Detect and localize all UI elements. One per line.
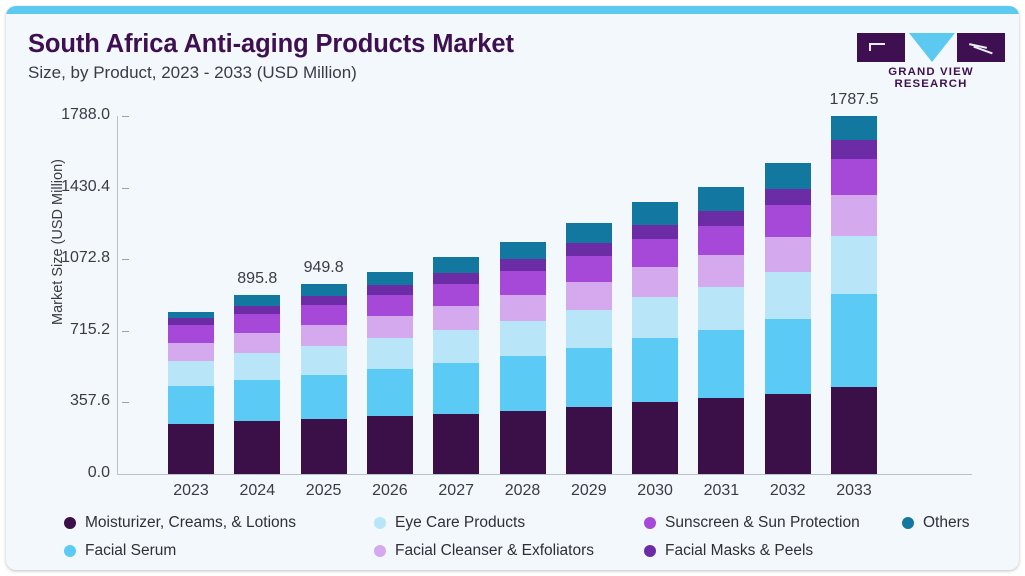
legend-item[interactable]: Moisturizer, Creams, & Lotions xyxy=(64,514,296,532)
x-axis-line xyxy=(117,474,972,475)
y-axis-tick-label: 1072.8 xyxy=(18,249,110,267)
bar-segment[interactable] xyxy=(765,394,811,474)
bar-segment[interactable] xyxy=(632,267,678,297)
bar-segment[interactable] xyxy=(698,226,744,255)
bar-segment[interactable] xyxy=(632,239,678,267)
bar-segment[interactable] xyxy=(367,338,413,369)
bar-segment[interactable] xyxy=(765,237,811,272)
bar-segment[interactable] xyxy=(566,256,612,282)
bar-segment[interactable] xyxy=(500,259,546,271)
bar-segment[interactable] xyxy=(632,202,678,225)
bar-segment[interactable] xyxy=(168,424,214,474)
bar-2033[interactable] xyxy=(831,116,877,474)
bar-segment[interactable] xyxy=(367,316,413,338)
legend-color-dot-icon xyxy=(374,517,386,529)
bar-segment[interactable] xyxy=(234,380,280,421)
bar-segment[interactable] xyxy=(765,205,811,237)
bar-segment[interactable] xyxy=(168,312,214,318)
chart-legend: Moisturizer, Creams, & LotionsEye Care P… xyxy=(64,514,994,564)
bar-segment[interactable] xyxy=(698,287,744,330)
x-axis-tick-label-2033: 2033 xyxy=(814,482,894,500)
legend-color-dot-icon xyxy=(374,545,386,557)
bar-segment[interactable] xyxy=(566,407,612,474)
bar-segment[interactable] xyxy=(698,330,744,398)
chart-card: South Africa Anti-aging Products Market … xyxy=(6,6,1019,570)
legend-item[interactable]: Sunscreen & Sun Protection xyxy=(644,514,860,532)
y-axis-tick-label: 715.2 xyxy=(18,321,110,339)
bar-segment[interactable] xyxy=(433,257,479,272)
bar-segment[interactable] xyxy=(433,414,479,474)
y-axis-tick-mark xyxy=(122,331,129,332)
bar-segment[interactable] xyxy=(433,306,479,330)
y-axis-tick-label: 1430.4 xyxy=(18,178,110,196)
bar-segment[interactable] xyxy=(234,295,280,306)
bar-2027[interactable] xyxy=(433,257,479,474)
bar-segment[interactable] xyxy=(698,187,744,210)
bar-segment[interactable] xyxy=(433,330,479,363)
legend-item-label: Sunscreen & Sun Protection xyxy=(665,514,860,532)
bar-2025[interactable] xyxy=(301,284,347,474)
bar-2031[interactable] xyxy=(698,187,744,474)
legend-item[interactable]: Eye Care Products xyxy=(374,514,525,532)
bar-segment[interactable] xyxy=(765,189,811,205)
bar-segment[interactable] xyxy=(234,306,280,314)
bar-segment[interactable] xyxy=(566,243,612,256)
y-axis-tick-mark xyxy=(122,188,129,189)
bar-segment[interactable] xyxy=(500,356,546,411)
legend-item-label: Others xyxy=(923,514,970,532)
bar-2023[interactable] xyxy=(168,312,214,474)
y-axis-tick-label: 1788.0 xyxy=(18,106,110,124)
legend-color-dot-icon xyxy=(644,517,656,529)
y-axis-tick-label: 0.0 xyxy=(18,464,110,482)
bar-segment[interactable] xyxy=(632,225,678,239)
bar-segment[interactable] xyxy=(500,271,546,295)
bar-segment[interactable] xyxy=(500,242,546,259)
bar-segment[interactable] xyxy=(566,310,612,348)
bar-segment[interactable] xyxy=(566,223,612,242)
legend-color-dot-icon xyxy=(64,517,76,529)
bar-segment[interactable] xyxy=(831,116,877,140)
legend-item-label: Facial Serum xyxy=(85,542,176,560)
bar-segment[interactable] xyxy=(500,411,546,474)
bar-segment[interactable] xyxy=(698,255,744,287)
bar-2030[interactable] xyxy=(632,201,678,474)
bar-segment[interactable] xyxy=(831,294,877,387)
legend-item[interactable]: Facial Masks & Peels xyxy=(644,542,813,560)
y-axis-line xyxy=(117,116,118,474)
legend-item-label: Facial Cleanser & Exfoliators xyxy=(395,542,594,560)
bar-2029[interactable] xyxy=(566,223,612,474)
bar-segment[interactable] xyxy=(367,295,413,316)
bar-segment[interactable] xyxy=(500,295,546,321)
legend-item[interactable]: Others xyxy=(902,514,970,532)
y-axis-tick-label: 357.6 xyxy=(18,392,110,410)
bar-segment[interactable] xyxy=(168,386,214,424)
bar-segment[interactable] xyxy=(433,284,479,306)
legend-item-label: Eye Care Products xyxy=(395,514,525,532)
legend-item[interactable]: Facial Cleanser & Exfoliators xyxy=(374,542,594,560)
bar-segment[interactable] xyxy=(168,325,214,343)
bar-segment[interactable] xyxy=(367,369,413,416)
bar-segment[interactable] xyxy=(234,353,280,380)
bar-value-label-2033: 1787.5 xyxy=(799,91,909,109)
bar-segment[interactable] xyxy=(831,236,877,294)
bar-segment[interactable] xyxy=(234,314,280,333)
y-axis-tick-mark xyxy=(122,116,129,117)
bar-segment[interactable] xyxy=(831,140,877,159)
bar-segment[interactable] xyxy=(566,282,612,310)
bar-2024[interactable] xyxy=(234,295,280,474)
bar-segment[interactable] xyxy=(632,297,678,338)
bar-segment[interactable] xyxy=(301,296,347,305)
bar-segment[interactable] xyxy=(765,319,811,394)
bar-segment[interactable] xyxy=(433,363,479,414)
bar-segment[interactable] xyxy=(500,321,546,356)
bar-segment[interactable] xyxy=(831,159,877,195)
bar-segment[interactable] xyxy=(698,211,744,226)
bar-segment[interactable] xyxy=(234,421,280,474)
bar-segment[interactable] xyxy=(632,402,678,474)
bar-2032[interactable] xyxy=(765,163,811,474)
legend-color-dot-icon xyxy=(644,545,656,557)
y-axis-tick-mark xyxy=(122,259,129,260)
bar-segment[interactable] xyxy=(831,387,877,474)
bar-segment[interactable] xyxy=(765,272,811,319)
y-axis-label: Market Size (USD Million) xyxy=(50,142,66,342)
bar-segment[interactable] xyxy=(168,318,214,325)
bar-segment[interactable] xyxy=(168,343,214,361)
legend-color-dot-icon xyxy=(64,545,76,557)
stacked-bar-chart: Market Size (USD Million) 0.0357.6715.21… xyxy=(6,6,1019,570)
bar-segment[interactable] xyxy=(301,375,347,419)
legend-item-label: Facial Masks & Peels xyxy=(665,542,813,560)
legend-color-dot-icon xyxy=(902,517,914,529)
bar-segment[interactable] xyxy=(632,338,678,402)
bar-segment[interactable] xyxy=(566,348,612,407)
bar-segment[interactable] xyxy=(765,163,811,188)
bar-2028[interactable] xyxy=(500,242,546,474)
bar-segment[interactable] xyxy=(698,398,744,474)
bar-segment[interactable] xyxy=(301,325,347,346)
bar-2026[interactable] xyxy=(367,272,413,474)
legend-item[interactable]: Facial Serum xyxy=(64,542,176,560)
bar-segment[interactable] xyxy=(831,195,877,236)
bar-segment[interactable] xyxy=(301,305,347,325)
bar-segment[interactable] xyxy=(301,346,347,375)
bar-segment[interactable] xyxy=(234,333,280,353)
bar-segment[interactable] xyxy=(301,419,347,474)
bar-segment[interactable] xyxy=(168,361,214,386)
bar-segment[interactable] xyxy=(433,273,479,284)
y-axis-tick-mark xyxy=(122,402,129,403)
legend-item-label: Moisturizer, Creams, & Lotions xyxy=(85,514,296,532)
bar-segment[interactable] xyxy=(367,285,413,295)
bar-value-label-2025: 949.8 xyxy=(269,259,379,277)
bar-segment[interactable] xyxy=(367,416,413,474)
